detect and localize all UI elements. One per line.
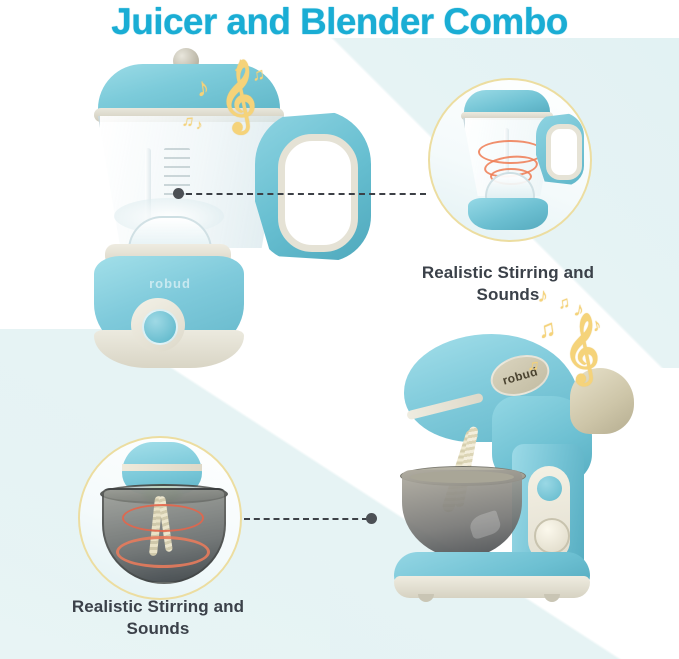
stand-mixer-illustration: robud [384, 318, 674, 618]
callout-blender-detail [428, 78, 592, 242]
callout-caption-bottom-left: Realistic Stirring and Sounds [48, 596, 268, 641]
callout-blender-base [468, 198, 548, 230]
callout-caption-top-right: Realistic Stirring and Sounds [398, 262, 618, 307]
mixer-button-top [537, 476, 562, 501]
mixer-speed-cap [570, 368, 634, 434]
stirring-motion-ring [122, 504, 204, 532]
callout-blender-handle-opening [546, 124, 582, 180]
connector-line-mixer [244, 518, 368, 520]
page-title: Juicer and Blender Combo [0, 0, 679, 44]
connector-line-blender [186, 193, 426, 195]
connector-dot-blender [173, 188, 184, 199]
product-infographic: Juicer and Blender Combo robud ♪ ♫ ♪ 𝄞 ♫… [0, 0, 679, 659]
mixer-bowl [402, 470, 522, 558]
mixer-button-bottom [534, 518, 570, 554]
mixer-leg-right [544, 594, 560, 602]
mixer-brand-label: robud [501, 364, 539, 387]
blender-power-dial [142, 309, 178, 345]
stirring-motion-ring [116, 536, 210, 568]
callout-mixer-detail [78, 436, 242, 600]
blender-illustration: robud [72, 48, 317, 378]
connector-dot-mixer [366, 513, 377, 524]
mixer-bowl-interior [410, 471, 514, 483]
mixer-leg-left [418, 594, 434, 602]
blender-brand-label: robud [116, 276, 224, 292]
callout-mixer-head-stripe [122, 464, 202, 471]
